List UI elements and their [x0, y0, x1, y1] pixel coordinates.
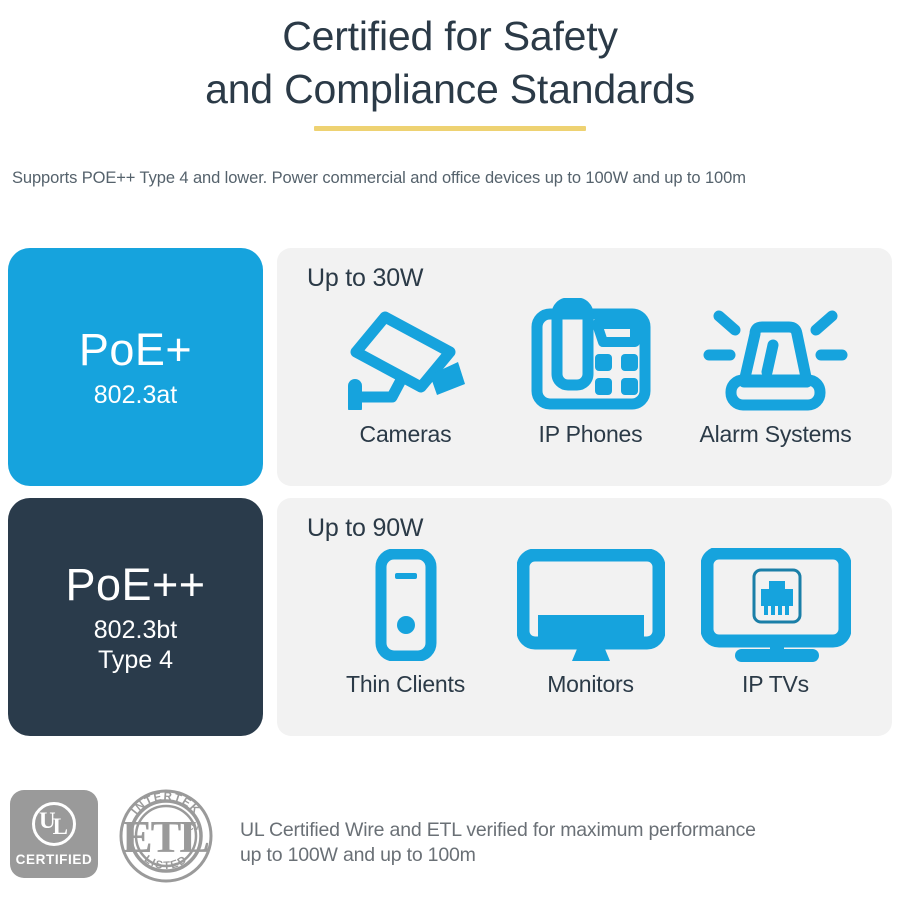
device-label-thin-clients: Thin Clients	[346, 671, 465, 698]
poe-plus-standard: 802.3at	[94, 380, 177, 410]
ul-certified-label: CERTIFIED	[16, 852, 93, 867]
poe-plusplus-type: Type 4	[98, 645, 173, 675]
poe-plusplus-badge-card: PoE++ 802.3bt Type 4	[8, 498, 263, 736]
device-label-ip-tvs: IP TVs	[742, 671, 809, 698]
page-title: Certified for Safety and Compliance Stan…	[0, 10, 900, 116]
device-label-cameras: Cameras	[360, 421, 452, 448]
poe-plusplus-device-list: Thin Clients Monitors	[307, 545, 874, 698]
ul-certified-badge: UL CERTIFIED	[10, 790, 98, 878]
header: Certified for Safety and Compliance Stan…	[0, 0, 900, 188]
device-label-ip-phones: IP Phones	[539, 421, 643, 448]
poe-plus-device-panel: Up to 30W Cameras	[277, 248, 892, 486]
subheading-text: Supports POE++ Type 4 and lower. Power c…	[12, 169, 900, 188]
poe-plus-badge-card: PoE+ 802.3at	[8, 248, 263, 486]
certification-description: UL Certified Wire and ETL verified for m…	[240, 818, 756, 868]
security-camera-icon	[338, 295, 473, 415]
device-item-alarm-systems: Alarm Systems	[683, 295, 868, 448]
poe-plus-row: PoE+ 802.3at Up to 30W	[8, 248, 892, 486]
ul-mark-l: L	[53, 814, 67, 839]
iptv-rj45-icon	[701, 545, 851, 665]
poe-plus-wattage: Up to 30W	[307, 264, 874, 293]
desk-phone-icon	[531, 295, 651, 415]
title-underline-rule	[314, 126, 586, 131]
etl-center-text: ETL	[122, 811, 208, 862]
poe-comparison-matrix: PoE+ 802.3at Up to 30W	[8, 248, 892, 748]
device-item-ip-tvs: IP TVs	[683, 545, 868, 698]
certification-description-line-2: up to 100W and up to 100m	[240, 843, 756, 868]
poe-plusplus-title: PoE++	[65, 559, 205, 611]
alarm-siren-icon	[703, 295, 848, 415]
etl-superscript-text: CM	[188, 823, 201, 832]
device-item-thin-clients: Thin Clients	[313, 545, 498, 698]
poe-plusplus-standard: 802.3bt	[94, 615, 177, 645]
etl-listed-badge: INTERTEK LISTED ETL CM	[116, 786, 216, 886]
ul-mark-letters: UL	[39, 813, 69, 835]
monitor-icon	[517, 545, 665, 665]
device-item-monitors: Monitors	[498, 545, 683, 698]
device-item-cameras: Cameras	[313, 295, 498, 448]
page-title-line-2: and Compliance Standards	[0, 63, 900, 116]
device-label-monitors: Monitors	[547, 671, 634, 698]
poe-plusplus-device-panel: Up to 90W Thin Clients	[277, 498, 892, 736]
thin-client-tower-icon	[371, 545, 441, 665]
ul-mark-circle: UL	[32, 802, 76, 846]
poe-plus-title: PoE+	[79, 324, 192, 376]
certification-strip: UL CERTIFIED INTERTEK LISTED ETL CM UL C…	[10, 790, 890, 886]
page-title-line-1: Certified for Safety	[0, 10, 900, 63]
device-label-alarm-systems: Alarm Systems	[699, 421, 851, 448]
poe-plus-device-list: Cameras IP Phones	[307, 295, 874, 448]
poe-plusplus-wattage: Up to 90W	[307, 514, 874, 543]
poe-plusplus-row: PoE++ 802.3bt Type 4 Up to 90W Thin Clie…	[8, 498, 892, 736]
device-item-ip-phones: IP Phones	[498, 295, 683, 448]
certification-description-line-1: UL Certified Wire and ETL verified for m…	[240, 818, 756, 843]
